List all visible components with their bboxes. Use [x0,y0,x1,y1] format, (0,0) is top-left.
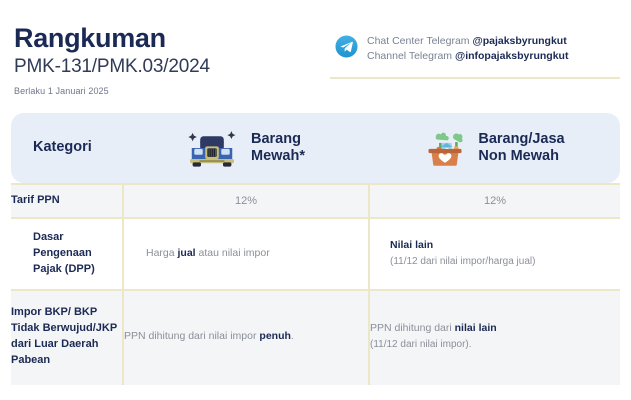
telegram-handles: Chat Center Telegram @pajaksbyrungkut Ch… [367,33,568,64]
luxury-car-icon [185,126,239,170]
impor-non-mewah-bold: nilai lain [455,322,497,334]
telegram-channel-handle[interactable]: @infopajaksbyrungkut [455,50,569,62]
dpp-mewah-pre: Harga [146,247,178,259]
column-header-barang-mewah-label: BarangMewah* [251,131,305,165]
page-title: Rangkuman [14,24,210,53]
impor-non-mewah-value: PPN dihitung dari nilai lain [370,321,620,337]
table-header-row: Kategori [11,113,620,183]
row-cell-non-mewah: PPN dihitung dari nilai lain (11/12 dari… [368,291,620,385]
table-row: Tarif PPN 12% 12% [11,183,620,217]
column-header-barang-mewah: BarangMewah* [122,126,368,170]
impor-mewah-bold: penuh [259,330,291,342]
row-cell-non-mewah: Nilai lain (11/12 dari nilai impor/harga… [368,219,620,289]
regulation-number: PMK-131/PMK.03/2024 [14,55,210,79]
dpp-mewah-bold: jual [178,247,196,259]
tarif-ppn-mewah-value: 12% [235,195,257,207]
summary-table: Kategori [11,113,620,385]
infographic-page: Rangkuman PMK-131/PMK.03/2024 Berlaku 1 … [0,0,631,400]
row-cell-mewah: Harga jual atau nilai impor [122,219,368,289]
donation-box-icon [423,126,467,170]
table-row: Impor BKP/ BKP Tidak Berwujud/JKP dari L… [11,289,620,385]
telegram-chat-center-line: Chat Center Telegram @pajaksbyrungkut [367,34,568,49]
header-divider [330,77,620,79]
impor-mewah-post: . [291,330,294,342]
column-header-barang-mewah-line1: Barang [251,131,301,147]
column-header-kategori: Kategori [11,139,122,156]
dpp-non-mewah-sub: (11/12 dari nilai impor/harga jual) [390,254,606,269]
impor-non-mewah-sub: (11/12 dari nilai impor). [370,337,620,352]
column-header-barang-jasa-non-mewah: Barang/JasaNon Mewah [368,126,620,170]
impor-non-mewah-pre: PPN dihitung dari [370,322,455,334]
tarif-ppn-non-mewah-value: 12% [484,195,506,207]
row-cell-mewah: PPN dihitung dari nilai impor penuh. [122,291,368,385]
column-header-kategori-label: Kategori [33,139,92,156]
telegram-contact-block[interactable]: Chat Center Telegram @pajaksbyrungkut Ch… [335,33,568,64]
dpp-mewah-value: Harga jual atau nilai impor [146,246,354,262]
table-row: Dasar Pengenaan Pajak (DPP) Harga jual a… [11,217,620,289]
row-cell-mewah: 12% [122,185,368,217]
telegram-chat-center-prefix: Chat Center Telegram [367,35,472,47]
effective-date-note: Berlaku 1 Januari 2025 [14,86,210,96]
row-label: Impor BKP/ BKP Tidak Berwujud/JKP dari L… [11,291,122,385]
column-header-non-mewah-line1: Barang/Jasa [478,131,564,147]
telegram-icon [335,35,358,58]
page-header: Rangkuman PMK-131/PMK.03/2024 Berlaku 1 … [0,0,631,108]
column-header-non-mewah-line2: Non Mewah [478,148,559,164]
row-label: Tarif PPN [11,185,122,217]
dpp-mewah-post: atau nilai impor [196,247,270,259]
row-cell-non-mewah: 12% [368,185,620,217]
impor-mewah-value: PPN dihitung dari nilai impor penuh. [124,329,368,345]
dpp-non-mewah-strong: Nilai lain [390,238,606,254]
telegram-channel-prefix: Channel Telegram [367,50,455,62]
title-block: Rangkuman PMK-131/PMK.03/2024 Berlaku 1 … [14,24,210,96]
telegram-chat-center-handle[interactable]: @pajaksbyrungkut [472,35,566,47]
row-label: Dasar Pengenaan Pajak (DPP) [11,219,122,289]
column-header-barang-mewah-line2: Mewah* [251,148,305,164]
column-header-non-mewah-label: Barang/JasaNon Mewah [478,131,564,165]
impor-mewah-pre: PPN dihitung dari nilai impor [124,330,259,342]
telegram-channel-line: Channel Telegram @infopajaksbyrungkut [367,49,568,64]
